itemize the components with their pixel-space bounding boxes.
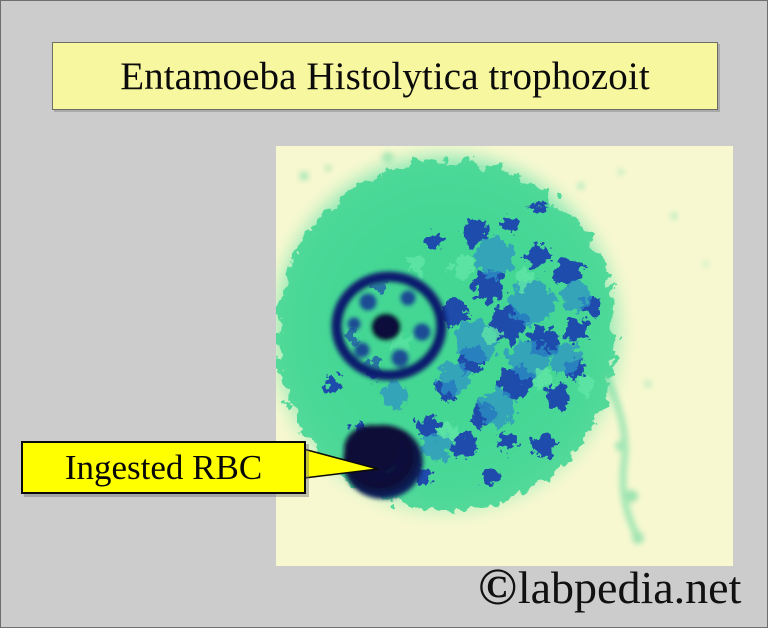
copyright-icon: © (478, 562, 517, 614)
slide-canvas: Entamoeba Histolytica trophozoit Ingeste… (0, 0, 768, 628)
ingested-rbc-callout: Ingested RBC (21, 441, 306, 494)
watermark: © labpedia.net (478, 562, 741, 614)
nucleus (337, 277, 441, 375)
title-banner: Entamoeba Histolytica trophozoit (52, 42, 718, 110)
watermark-text: labpedia.net (518, 565, 742, 611)
callout-box: Ingested RBC (21, 441, 306, 494)
page-title: Entamoeba Histolytica trophozoit (120, 57, 650, 96)
micrograph-image (276, 146, 733, 566)
callout-label: Ingested RBC (65, 450, 262, 485)
callout-pointer-icon (296, 439, 381, 496)
karyosome (371, 313, 401, 341)
micrograph-svg (276, 146, 733, 566)
